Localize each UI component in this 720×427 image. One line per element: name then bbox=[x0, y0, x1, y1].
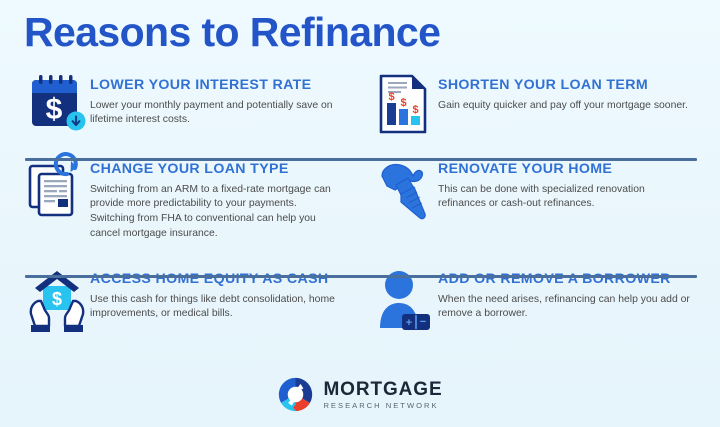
brand-wordmark: MORTGAGE RESEARCH NETWORK bbox=[323, 380, 442, 410]
svg-text:$: $ bbox=[46, 93, 63, 126]
infographic-page: Reasons to Refinance $ bbox=[0, 0, 720, 427]
divider-row-1 bbox=[25, 158, 697, 161]
reasons-row-3: $ ACCESS HOME EQUITY AS CASH Use this ca… bbox=[0, 266, 720, 366]
reason-heading: CHANGE YOUR LOAN TYPE bbox=[90, 162, 338, 178]
reason-text: CHANGE YOUR LOAN TYPE Switching from an … bbox=[90, 156, 338, 242]
reason-heading: LOWER YOUR INTEREST RATE bbox=[90, 78, 338, 94]
divider-row-2 bbox=[25, 275, 697, 278]
reason-body: This can be done with specialized renova… bbox=[438, 183, 690, 213]
brand-footer: MORTGAGE RESEARCH NETWORK bbox=[0, 376, 720, 413]
reason-item-shorten-loan-term: $ $ $ SHORTEN YOUR LOAN TERM Gain equity… bbox=[360, 72, 720, 156]
reason-heading: SHORTEN YOUR LOAN TERM bbox=[438, 78, 688, 94]
document-bar-chart-dollar-icon: $ $ $ bbox=[372, 72, 438, 138]
hammer-icon bbox=[372, 156, 438, 222]
reasons-grid: $ LOWER YOUR INTEREST RATE Lower your mo… bbox=[0, 72, 720, 366]
reason-item-change-loan-type: CHANGE YOUR LOAN TYPE Switching from an … bbox=[0, 156, 360, 266]
gauge-speedometer-icon bbox=[277, 376, 314, 413]
reason-body: When the need arises, refinancing can he… bbox=[438, 293, 690, 323]
svg-text:+: + bbox=[406, 317, 412, 329]
svg-text:$: $ bbox=[400, 97, 406, 109]
reasons-row-1: $ LOWER YOUR INTEREST RATE Lower your mo… bbox=[0, 72, 720, 156]
reason-body: Use this cash for things like debt conso… bbox=[90, 293, 338, 323]
reason-item-access-home-equity: $ ACCESS HOME EQUITY AS CASH Use this ca… bbox=[0, 266, 360, 366]
reason-item-lower-interest-rate: $ LOWER YOUR INTEREST RATE Lower your mo… bbox=[0, 72, 360, 156]
reason-item-renovate-home: RENOVATE YOUR HOME This can be done with… bbox=[360, 156, 720, 266]
calendar-dollar-down-icon: $ bbox=[24, 72, 90, 138]
svg-text:$: $ bbox=[412, 104, 418, 116]
brand-primary: MORTGAGE bbox=[323, 380, 442, 399]
page-title: Reasons to Refinance bbox=[24, 9, 440, 56]
reason-item-add-remove-borrower: + − ADD OR REMOVE A BORROWER When the ne… bbox=[360, 266, 720, 366]
reason-text: RENOVATE YOUR HOME This can be done with… bbox=[438, 156, 690, 212]
documents-swap-arrow-icon bbox=[24, 156, 90, 222]
reason-body: Switching from an ARM to a fixed-rate mo… bbox=[90, 183, 338, 242]
reasons-row-2: CHANGE YOUR LOAN TYPE Switching from an … bbox=[0, 156, 720, 266]
reason-heading: RENOVATE YOUR HOME bbox=[438, 162, 690, 178]
reason-text: SHORTEN YOUR LOAN TERM Gain equity quick… bbox=[438, 72, 688, 113]
brand-secondary: RESEARCH NETWORK bbox=[323, 402, 442, 410]
svg-text:$: $ bbox=[52, 289, 62, 309]
reason-body: Gain equity quicker and pay off your mor… bbox=[438, 99, 688, 114]
reason-text: LOWER YOUR INTEREST RATE Lower your mont… bbox=[90, 72, 338, 128]
svg-text:−: − bbox=[420, 316, 426, 328]
reason-body: Lower your monthly payment and potential… bbox=[90, 99, 338, 129]
svg-text:$: $ bbox=[388, 91, 394, 103]
